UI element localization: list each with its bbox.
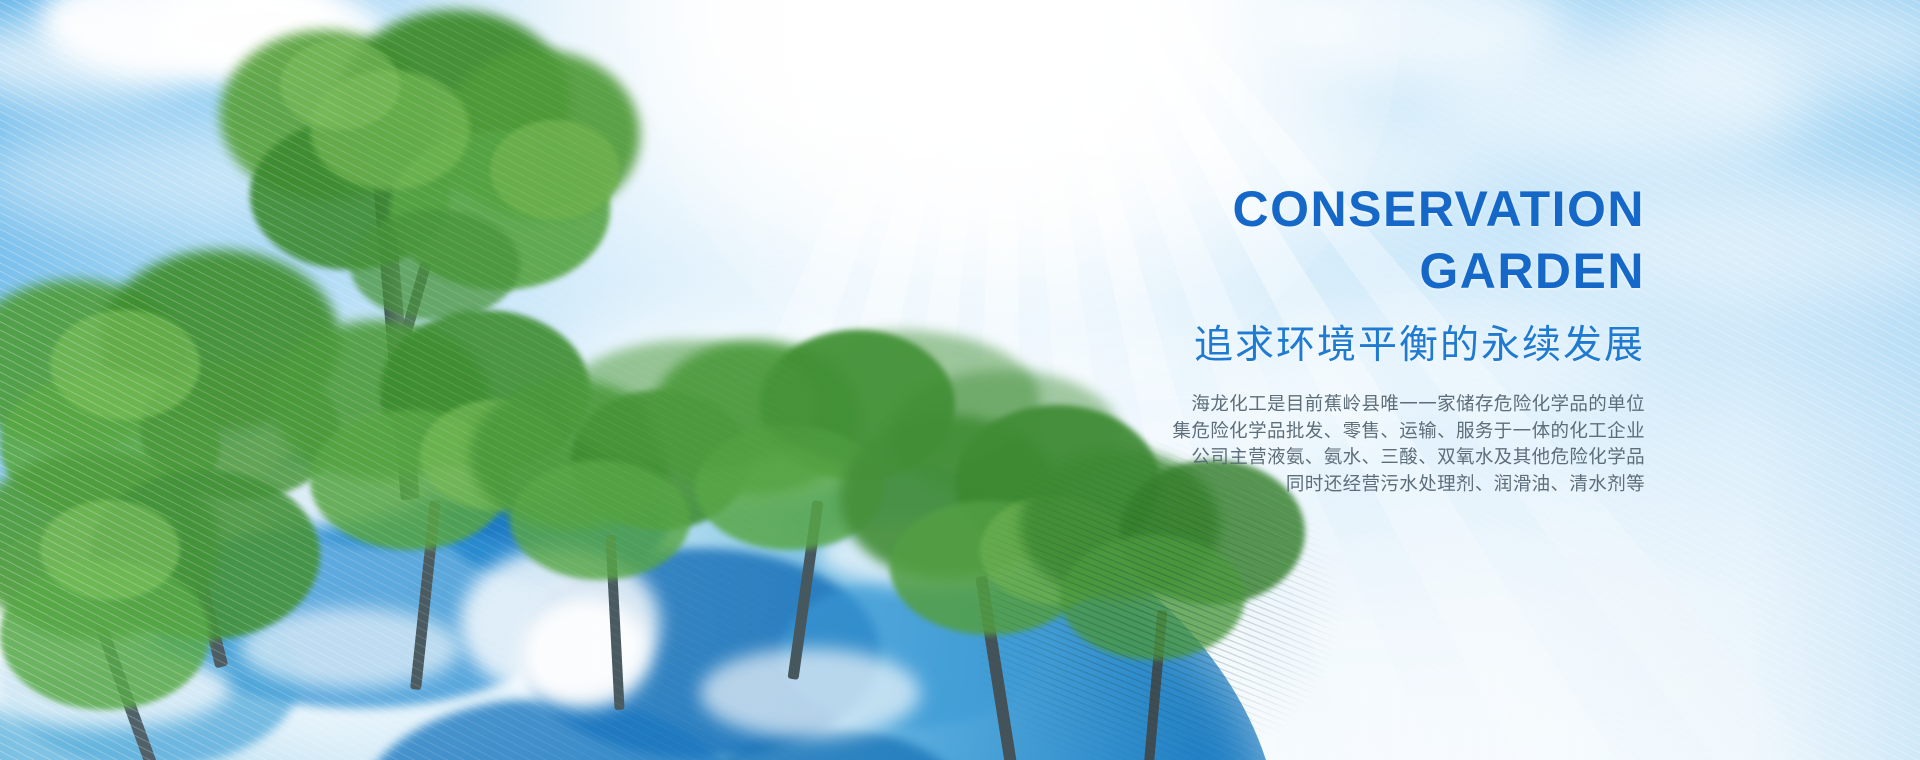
description-line: 集危险化学品批发、零售、运输、服务于一体的化工企业: [905, 418, 1645, 445]
description-line: 公司主营液氨、氨水、三酸、双氧水及其他危险化学品: [905, 444, 1645, 471]
description-paragraph: 海龙化工是目前蕉岭县唯一一家储存危险化学品的单位 集危险化学品批发、零售、运输、…: [905, 391, 1645, 497]
headline-line-1: CONSERVATION: [905, 178, 1645, 240]
banner-copy: CONSERVATION GARDEN 追求环境平衡的永续发展 海龙化工是目前蕉…: [905, 178, 1645, 497]
headline-line-2: GARDEN: [905, 240, 1645, 302]
subheadline: 追求环境平衡的永续发展: [905, 322, 1645, 370]
hero-banner: CONSERVATION GARDEN 追求环境平衡的永续发展 海龙化工是目前蕉…: [0, 0, 1920, 760]
description-line: 海龙化工是目前蕉岭县唯一一家储存危险化学品的单位: [905, 391, 1645, 418]
description-line: 同时还经营污水处理剂、润滑油、清水剂等: [905, 471, 1645, 498]
